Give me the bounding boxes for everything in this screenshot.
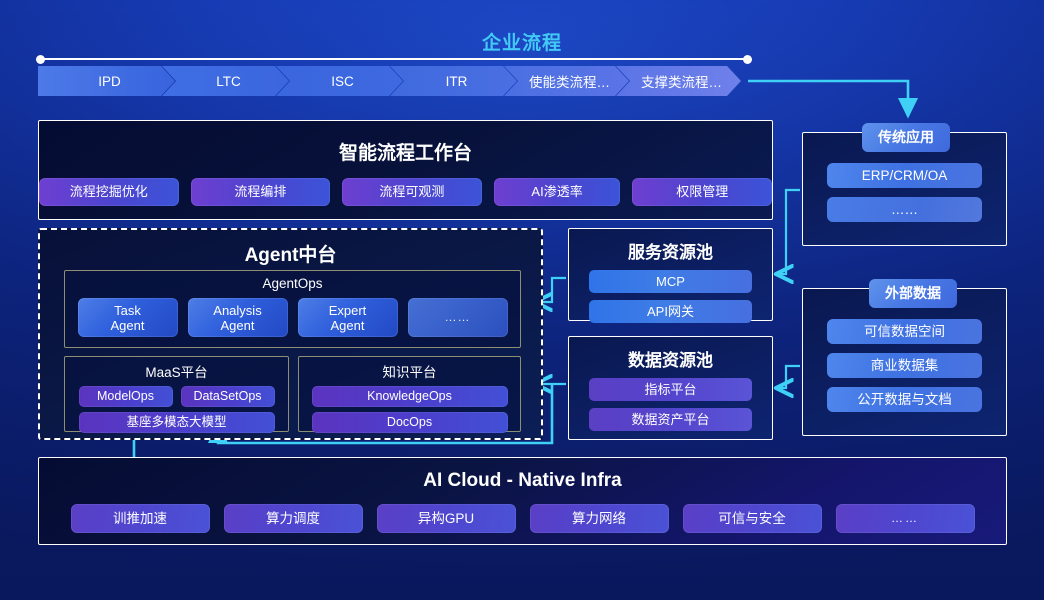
- maas-pill-2[interactable]: DataSetOps: [181, 386, 275, 407]
- process-rail: [38, 58, 750, 60]
- knowledge-row: DocOps: [299, 412, 520, 433]
- connector-external-to-data: [778, 366, 800, 388]
- workbench-title: 智能流程工作台: [39, 138, 772, 165]
- page-title: 企业流程: [0, 28, 1044, 55]
- data-pool-card: 数据资源池 指标平台数据资产平台: [568, 336, 773, 440]
- agentops-title: AgentOps: [65, 276, 520, 291]
- external-data-tag: 外部数据: [869, 279, 957, 308]
- process-step-4[interactable]: ITR: [390, 66, 517, 96]
- infra-card: AI Cloud - Native Infra 训推加速算力调度异构GPU算力网…: [38, 457, 1007, 545]
- infra-chip-4[interactable]: 算力网络: [530, 504, 669, 533]
- external-data-pill-1[interactable]: 可信数据空间: [827, 319, 982, 344]
- workbench-card: 智能流程工作台 流程挖掘优化流程编排流程可观测AI渗透率权限管理: [38, 120, 773, 220]
- workbench-chip-3[interactable]: 流程可观测: [342, 178, 482, 206]
- external-data-card: 可信数据空间商业数据集公开数据与文档: [802, 288, 1007, 436]
- agent-chip-1[interactable]: TaskAgent: [78, 298, 178, 337]
- agent-chip-label: Agent: [221, 318, 255, 333]
- process-step-label: ITR: [440, 74, 468, 89]
- agent-hub-card: Agent中台 AgentOps TaskAgentAnalysisAgentE…: [38, 228, 543, 440]
- process-step-6[interactable]: 支撑类流程…: [616, 66, 741, 96]
- process-step-3[interactable]: ISC: [276, 66, 403, 96]
- process-step-5[interactable]: 使能类流程…: [504, 66, 629, 96]
- maas-row-bottom: 基座多模态大模型: [65, 412, 288, 433]
- traditional-app-pill-1[interactable]: ERP/CRM/OA: [827, 163, 982, 188]
- service-pool-title: 服务资源池: [569, 238, 772, 263]
- infra-chip-2[interactable]: 算力调度: [224, 504, 363, 533]
- connector-chain-to-traditional: [748, 81, 908, 116]
- external-data-pill-2[interactable]: 商业数据集: [827, 353, 982, 378]
- agent-chip-label: ……: [445, 310, 471, 325]
- data-pool-title: 数据资源池: [569, 346, 772, 371]
- service-pool-list: MCPAPI网关: [569, 270, 772, 323]
- connector-traditional-to-service: [778, 190, 800, 274]
- process-step-label: 支撑类流程…: [635, 71, 722, 91]
- workbench-chip-5[interactable]: 权限管理: [632, 178, 772, 206]
- agent-chip-label: Agent: [331, 318, 365, 333]
- maas-row-top: ModelOpsDataSetOps: [65, 386, 288, 407]
- workbench-chip-2[interactable]: 流程编排: [191, 178, 331, 206]
- knowledge-title: 知识平台: [299, 361, 520, 381]
- agent-chip-2[interactable]: AnalysisAgent: [188, 298, 288, 337]
- data-pool-list: 指标平台数据资产平台: [569, 378, 772, 431]
- workbench-chip-row: 流程挖掘优化流程编排流程可观测AI渗透率权限管理: [39, 178, 772, 206]
- data-pool-pill-1[interactable]: 指标平台: [589, 378, 752, 401]
- agent-chip-3[interactable]: ExpertAgent: [298, 298, 398, 337]
- agent-chip-4[interactable]: ……: [408, 298, 508, 337]
- data-pool-pill-2[interactable]: 数据资产平台: [589, 408, 752, 431]
- process-step-1[interactable]: IPD: [38, 66, 175, 96]
- agent-chip-label: Expert: [329, 303, 367, 318]
- infra-chip-1[interactable]: 训推加速: [71, 504, 210, 533]
- maas-title: MaaS平台: [65, 361, 288, 381]
- maas-pill-1[interactable]: ModelOps: [79, 386, 173, 407]
- infra-title: AI Cloud - Native Infra: [39, 470, 1006, 492]
- process-step-label: IPD: [92, 74, 121, 89]
- maas-base-model-pill[interactable]: 基座多模态大模型: [79, 412, 275, 433]
- agent-chip-label: Task: [114, 303, 141, 318]
- knowledge-pill-2[interactable]: DocOps: [312, 412, 508, 433]
- knowledge-box: 知识平台 KnowledgeOpsDocOps: [298, 356, 521, 432]
- infra-chip-6[interactable]: ……: [836, 504, 975, 533]
- process-chain: IPDLTCISCITR使能类流程…支撑类流程…: [38, 66, 728, 96]
- traditional-app-pill-2[interactable]: ……: [827, 197, 982, 222]
- process-step-label: LTC: [210, 74, 241, 89]
- process-step-label: ISC: [325, 74, 354, 89]
- external-data-pill-3[interactable]: 公开数据与文档: [827, 387, 982, 412]
- traditional-apps-tag: 传统应用: [862, 123, 950, 152]
- knowledge-pill-1[interactable]: KnowledgeOps: [312, 386, 508, 407]
- agent-chip-label: Analysis: [213, 303, 261, 318]
- agent-hub-title: Agent中台: [40, 240, 541, 267]
- maas-box: MaaS平台 ModelOpsDataSetOps 基座多模态大模型: [64, 356, 289, 432]
- service-pool-pill-2[interactable]: API网关: [589, 300, 752, 323]
- knowledge-list: KnowledgeOpsDocOps: [299, 386, 520, 433]
- infra-chip-5[interactable]: 可信与安全: [683, 504, 822, 533]
- process-step-label: 使能类流程…: [523, 71, 610, 91]
- rail-dot-right: [743, 55, 752, 64]
- agent-chip-label: Agent: [111, 318, 145, 333]
- diagram-canvas: 企业流程 IPDLTCISCITR使能类流程…支撑类流程…: [0, 0, 1044, 600]
- agent-chip-row: TaskAgentAnalysisAgentExpertAgent……: [65, 298, 520, 337]
- rail-dot-left: [36, 55, 45, 64]
- knowledge-row: KnowledgeOps: [299, 386, 520, 407]
- infra-chip-3[interactable]: 异构GPU: [377, 504, 516, 533]
- agentops-box: AgentOps TaskAgentAnalysisAgentExpertAge…: [64, 270, 521, 348]
- workbench-chip-1[interactable]: 流程挖掘优化: [39, 178, 179, 206]
- service-pool-pill-1[interactable]: MCP: [589, 270, 752, 293]
- service-pool-card: 服务资源池 MCPAPI网关: [568, 228, 773, 321]
- process-step-2[interactable]: LTC: [162, 66, 289, 96]
- workbench-chip-4[interactable]: AI渗透率: [494, 178, 621, 206]
- infra-chip-row: 训推加速算力调度异构GPU算力网络可信与安全……: [39, 504, 1006, 533]
